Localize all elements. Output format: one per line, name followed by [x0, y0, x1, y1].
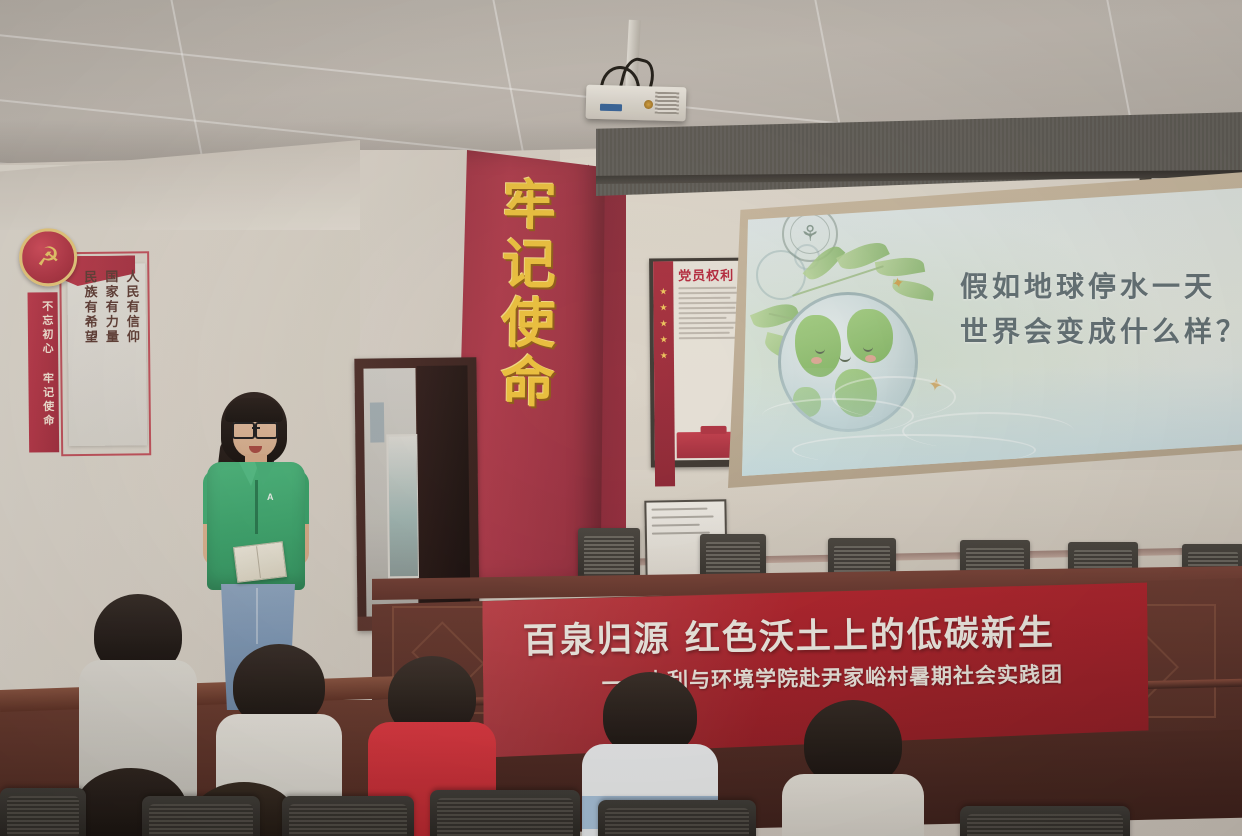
plaque-column-3: 民族有希望: [80, 270, 101, 440]
presentation-room-photo: 不忘初心 牢记使命 人民有信仰 国家有力量 民族有希望 ☭ 牢 记 使 命 ★ …: [0, 0, 1242, 836]
poster-title: 党员权利: [678, 265, 747, 285]
audience-chair[interactable]: [0, 788, 86, 836]
audience-chair[interactable]: [430, 790, 580, 836]
audience-chair[interactable]: [598, 800, 756, 836]
star-4: ★: [660, 335, 668, 344]
presenter-bangs: [225, 398, 283, 422]
pillar-char-4: 命: [501, 356, 556, 409]
presenter-placket: [255, 480, 258, 534]
banner-main-text: 百泉归源 红色沃土上的低碳新生: [522, 603, 1123, 663]
plaque-column-1: 人民有信仰: [122, 269, 143, 439]
stage-chair[interactable]: [578, 528, 640, 582]
projector-indicator: [600, 104, 622, 112]
audience-chair[interactable]: [142, 796, 260, 836]
hammer-sickle-icon: ☭: [19, 228, 78, 287]
plaque-band-text: 不忘初心 牢记使命: [32, 300, 56, 450]
plaque-main-text: 人民有信仰 国家有力量 民族有希望: [71, 269, 143, 440]
list-item: [782, 700, 924, 836]
corridor-window: [386, 434, 420, 578]
slide-line-1: 假如地球停水一天: [960, 264, 1240, 309]
hammer-sickle-glyph: ☭: [36, 243, 60, 269]
five-stars-icon: ★ ★ ★ ★ ★: [653, 261, 675, 486]
audience-chair[interactable]: [960, 806, 1130, 836]
star-3: ★: [660, 319, 668, 328]
pillar-banner-text: 牢 记 使 命: [480, 180, 576, 561]
slide-line-2: 世界会变成什么样？: [960, 309, 1240, 354]
pillar-char-1: 牢: [502, 180, 557, 233]
shirt-logo: A: [267, 492, 297, 503]
slide-text: 假如地球停水一天 世界会变成什么样？: [960, 264, 1240, 355]
projection-screen-icon[interactable]: ⚘ ✦ ✦: [742, 188, 1242, 476]
glasses-icon: [231, 422, 279, 436]
notebook-icon: [233, 541, 287, 583]
list-item: [78, 594, 198, 794]
emblem-glyph: ⚘: [800, 222, 820, 247]
pillar-char-3: 使: [501, 298, 556, 351]
corridor-poster: [370, 402, 384, 442]
projector-vent: [655, 92, 680, 115]
plaque-column-2: 国家有力量: [101, 270, 122, 440]
pillar-char-2: 记: [502, 239, 557, 292]
presenter-jeans-seam: [256, 588, 258, 644]
party-slogan-plaque: 不忘初心 牢记使命 人民有信仰 国家有力量 民族有希望 ☭: [9, 221, 153, 454]
star-1: ★: [659, 287, 667, 296]
audience-chair[interactable]: [282, 796, 414, 836]
star-2: ★: [659, 303, 667, 312]
star-5: ★: [660, 351, 668, 360]
